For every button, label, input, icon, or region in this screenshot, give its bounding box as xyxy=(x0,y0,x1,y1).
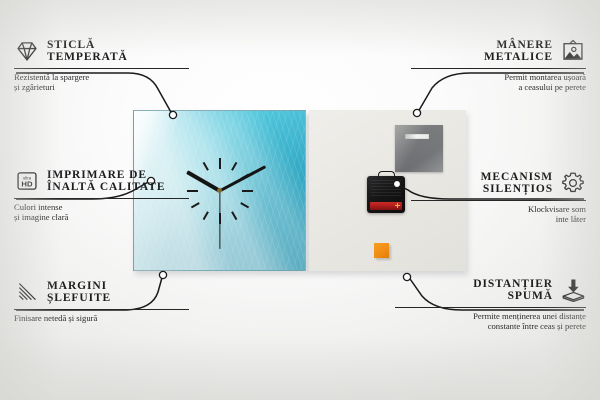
foam-spacer-pad xyxy=(374,243,389,258)
callout-title: MECANISM SILENȚIOS xyxy=(481,171,553,196)
callout-header: MÂNERE METALICE xyxy=(411,38,586,64)
metal-sheen xyxy=(395,125,443,172)
callout-subtitle-line1: Culori intense xyxy=(14,202,189,212)
callout-title: DISTANȚIER SPUMĂ xyxy=(473,278,553,303)
picture-hanger-icon xyxy=(560,38,586,64)
callout-subtitle-line1: Finisare netedă și sigură xyxy=(14,313,189,323)
callout-rule xyxy=(14,309,189,310)
callout-subtitle-line2: a ceasului pe perete xyxy=(411,82,586,92)
diamond-icon xyxy=(14,38,40,64)
gear-icon xyxy=(560,170,586,196)
callout-rule xyxy=(395,307,586,308)
callout-subtitle-line1: Rezistentă la spargere xyxy=(14,72,189,82)
callout-subtitle-line1: Permit montarea ușoară xyxy=(411,72,586,82)
callout-metal-handles[interactable]: MÂNERE METALICE Permit montarea ușoară a… xyxy=(411,38,586,93)
callout-header: ultra HD IMPRIMARE DE ÎNALTĂ CALITATE xyxy=(14,168,189,194)
callout-title: IMPRIMARE DE ÎNALTĂ CALITATE xyxy=(47,169,165,194)
callout-high-quality-print[interactable]: ultra HD IMPRIMARE DE ÎNALTĂ CALITATE Cu… xyxy=(14,168,189,223)
callout-title: STICLĂ TEMPERATĂ xyxy=(47,39,128,64)
clock-hand-cap xyxy=(217,188,222,193)
callout-rule xyxy=(14,198,189,199)
mechanism-hanging-loop xyxy=(378,171,395,179)
callout-header: MARGINI ȘLEFUITE xyxy=(14,279,189,305)
callout-rule xyxy=(411,68,586,69)
callout-foam-spacer[interactable]: DISTANȚIER SPUMĂ Permite menținerea unei… xyxy=(395,277,586,332)
callout-subtitle-line2: inte låter xyxy=(411,214,586,224)
battery xyxy=(370,202,402,210)
callout-subtitle-line2: și imagine clară xyxy=(14,212,189,222)
callout-subtitle-line1: Klockvisare som xyxy=(411,204,586,214)
svg-text:HD: HD xyxy=(21,180,33,189)
metal-hanger-plate xyxy=(395,125,443,172)
clock-second-hand xyxy=(219,191,220,249)
press-down-pad-icon xyxy=(560,277,586,303)
callout-header: DISTANȚIER SPUMĂ xyxy=(395,277,586,303)
callout-subtitle-line2: constante între ceas și perete xyxy=(395,321,586,331)
callout-title: MARGINI ȘLEFUITE xyxy=(47,280,111,305)
callout-subtitle-line1: Permite menținerea unei distanțe xyxy=(395,311,586,321)
callout-header: STICLĂ TEMPERATĂ xyxy=(14,38,189,64)
callout-rule xyxy=(14,68,189,69)
clock-mechanism xyxy=(367,176,405,213)
ultra-hd-icon: ultra HD xyxy=(14,168,40,194)
callout-rule xyxy=(411,200,586,201)
callout-tempered-glass[interactable]: STICLĂ TEMPERATĂ Rezistentă la spargere … xyxy=(14,38,189,93)
callout-header: MECANISM SILENȚIOS xyxy=(411,170,586,196)
callout-polished-edges[interactable]: MARGINI ȘLEFUITE Finisare netedă și sigu… xyxy=(14,279,189,323)
infographic-canvas: STICLĂ TEMPERATĂ Rezistentă la spargere … xyxy=(0,0,600,400)
callout-subtitle-line2: și zgârieturi xyxy=(14,82,189,92)
callout-silent-mechanism[interactable]: MECANISM SILENȚIOS Klockvisare som inte … xyxy=(411,170,586,225)
callout-title: MÂNERE METALICE xyxy=(484,39,553,64)
mechanism-face xyxy=(371,180,401,198)
bevelled-edge-icon xyxy=(14,279,40,305)
